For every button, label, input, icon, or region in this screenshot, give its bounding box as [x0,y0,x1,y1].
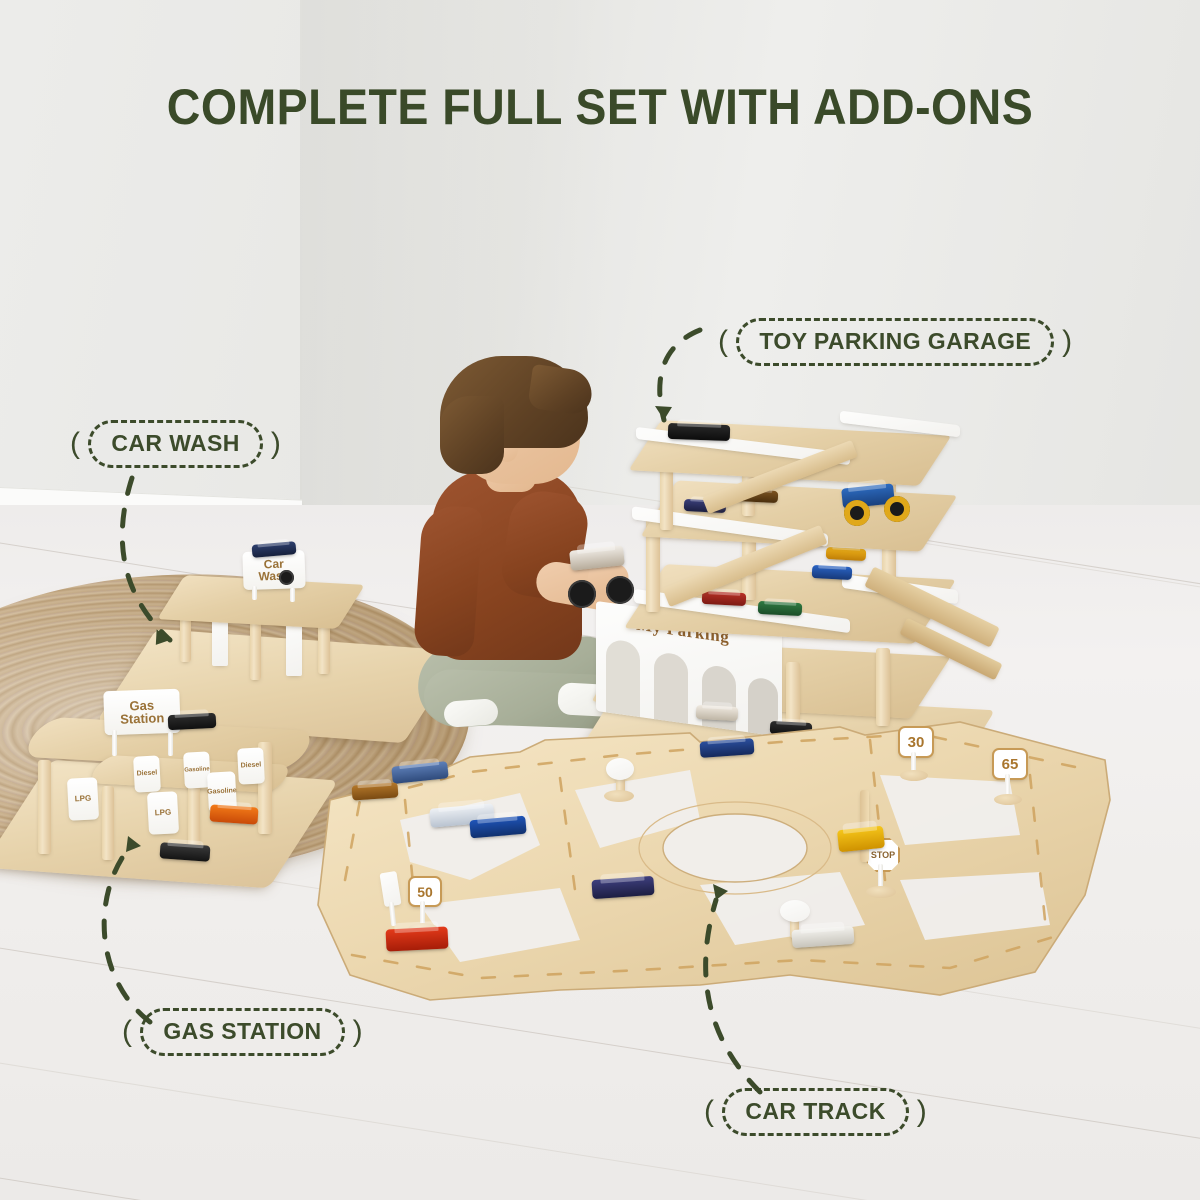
fuel-pump-label: LPG [155,808,172,817]
speed-limit-value: 30 [908,734,925,751]
toy-car [826,547,867,561]
toy-car [758,601,803,616]
callout-car-track[interactable]: ( CAR TRACK ) [704,1088,927,1136]
callout-car-track-label: CAR TRACK [722,1088,908,1136]
speed-limit-sign: 30 [898,726,934,758]
product-marketing-image: Car Wash Gas Station Diesel Gasol [0,0,1200,1200]
fuel-pump: LPG [67,777,99,821]
fuel-pump-label: Diesel [241,762,262,770]
page-title: COMPLETE FULL SET WITH ADD-ONS [42,78,1158,136]
fuel-pump-label: LPG [75,794,92,803]
callout-close-paren: ) [1062,327,1072,357]
fuel-pump: Diesel [133,755,161,792]
gas-station-sign-line2: Station [120,711,164,726]
toy-car [696,705,739,721]
toy-car [812,565,853,580]
fuel-pump-label: Gasoline [207,788,237,797]
callout-open-paren: ( [718,327,728,357]
callout-close-paren: ) [271,429,281,459]
callout-gas-station[interactable]: ( GAS STATION ) [122,1008,363,1056]
toy-car [385,926,448,951]
toy-car [168,713,217,730]
fuel-pump-label: Diesel [137,770,158,778]
speed-limit-value: 50 [417,884,433,900]
toy-car [668,423,731,441]
toy-car [160,842,211,861]
toy-car [702,591,747,606]
fuel-pump-label: Gasoline [184,766,210,773]
speed-limit-sign: 50 [408,876,442,907]
callout-open-paren: ( [122,1017,132,1047]
toy-car [352,782,399,800]
callout-open-paren: ( [704,1097,714,1127]
callout-open-paren: ( [70,429,80,459]
fuel-pump: Diesel [237,747,265,784]
callout-gas-station-label: GAS STATION [140,1008,344,1056]
callout-toy-garage[interactable]: ( TOY PARKING GARAGE ) [718,318,1073,366]
toy-car [770,721,813,736]
toy-car [209,804,258,824]
callout-close-paren: ) [917,1097,927,1127]
callout-car-wash[interactable]: ( CAR WASH ) [70,420,281,468]
stop-sign-value: STOP [871,850,895,860]
speed-limit-value: 65 [1002,756,1019,773]
callout-close-paren: ) [353,1017,363,1047]
callout-car-wash-label: CAR WASH [88,420,262,468]
callout-toy-garage-label: TOY PARKING GARAGE [736,318,1054,366]
speed-limit-sign: 65 [992,748,1028,780]
fuel-pump: LPG [147,791,179,835]
